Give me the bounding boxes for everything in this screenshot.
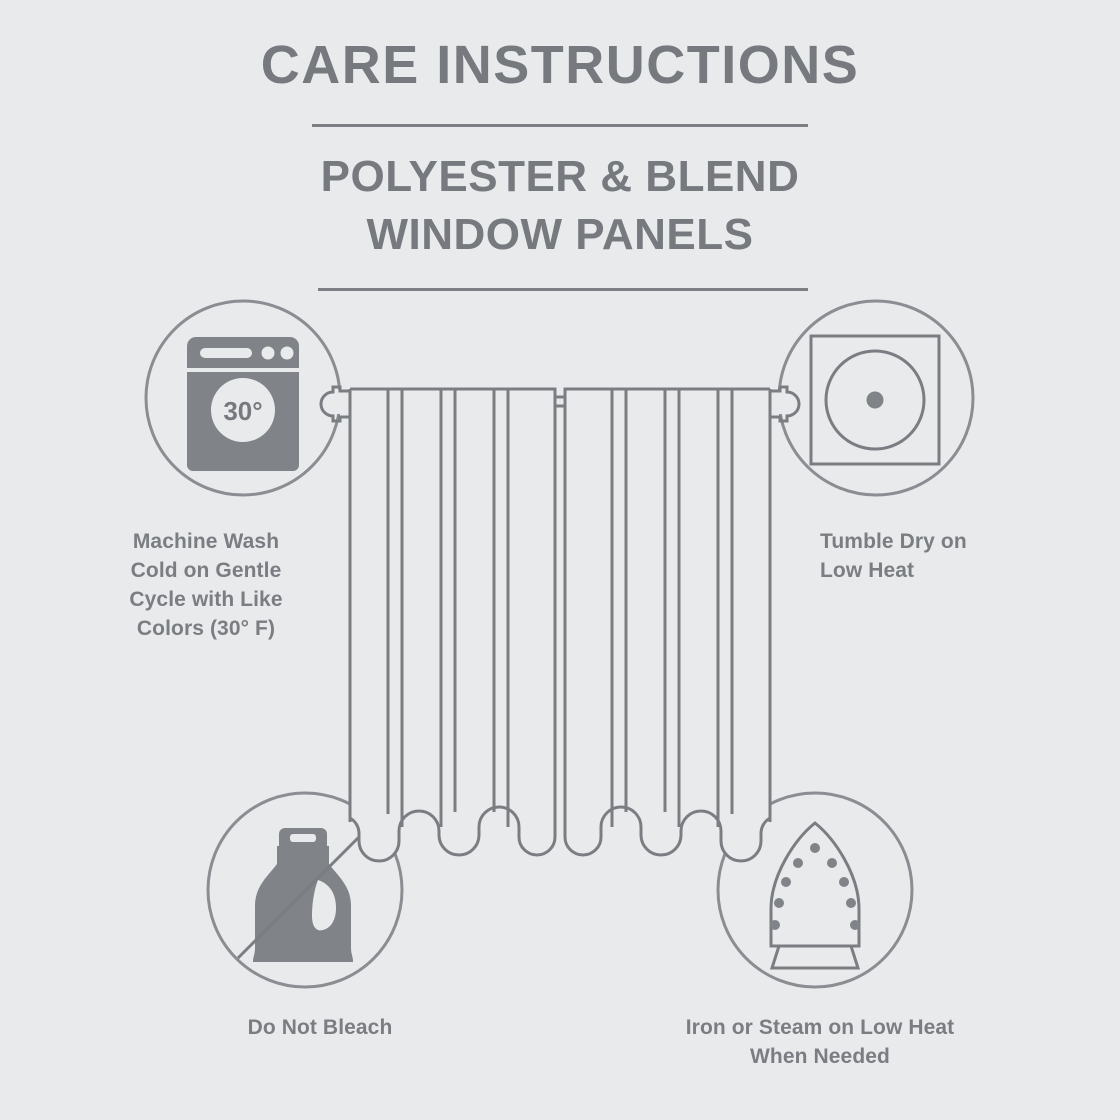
- iron-steam-hole: [793, 858, 803, 868]
- caption-line: When Needed: [600, 1043, 1040, 1072]
- washer-knob-2: [281, 347, 294, 360]
- caption-do-not-bleach: Do Not Bleach: [150, 1014, 490, 1043]
- dryer-low-heat-dot: [867, 392, 884, 409]
- iron-steam-hole: [781, 877, 791, 887]
- caption-iron-steam: Iron or Steam on Low Heat When Needed: [600, 1014, 1040, 1072]
- bleach-cap-slot: [290, 834, 316, 842]
- washing-machine-icon: 30°: [187, 337, 299, 471]
- left-finial-fill: [314, 390, 350, 414]
- iron-steam-hole: [774, 898, 784, 908]
- caption-line: Colors (30° F): [78, 615, 334, 644]
- curtain-panel-right: [565, 389, 770, 861]
- iron-steam-hole: [810, 843, 820, 853]
- wash-temperature-label: 30°: [223, 396, 262, 426]
- care-instructions-infographic: CARE INSTRUCTIONS POLYESTER & BLEND WIND…: [0, 0, 1120, 1120]
- bleach-bottle-neck: [277, 846, 329, 866]
- caption-tumble-dry: Tumble Dry on Low Heat: [820, 528, 1120, 586]
- washer-knob-1: [262, 347, 275, 360]
- caption-line: Low Heat: [820, 557, 1120, 586]
- caption-line: Cycle with Like: [78, 586, 334, 615]
- washer-drawer-slot: [200, 348, 252, 358]
- curtain-panel-left: [350, 389, 555, 861]
- caption-machine-wash: Machine Wash Cold on Gentle Cycle with L…: [78, 528, 334, 644]
- left-panel-fill: [350, 389, 555, 861]
- right-panel-fill: [565, 389, 770, 861]
- no-bleach-icon: [238, 822, 374, 962]
- iron-steam-hole: [850, 920, 860, 930]
- bleach-bottle-body: [253, 864, 353, 962]
- right-finial-fill: [770, 390, 806, 414]
- iron-steam-hole: [839, 877, 849, 887]
- iron-base: [772, 946, 858, 968]
- caption-line: Do Not Bleach: [150, 1014, 490, 1043]
- tumble-dry-icon: [811, 336, 939, 464]
- iron-icon: [770, 823, 860, 968]
- caption-line: Machine Wash: [78, 528, 334, 557]
- caption-line: Cold on Gentle: [78, 557, 334, 586]
- iron-steam-hole: [846, 898, 856, 908]
- iron-steam-hole: [770, 920, 780, 930]
- caption-line: Tumble Dry on: [820, 528, 1120, 557]
- caption-line: Iron or Steam on Low Heat: [600, 1014, 1040, 1043]
- iron-steam-hole: [827, 858, 837, 868]
